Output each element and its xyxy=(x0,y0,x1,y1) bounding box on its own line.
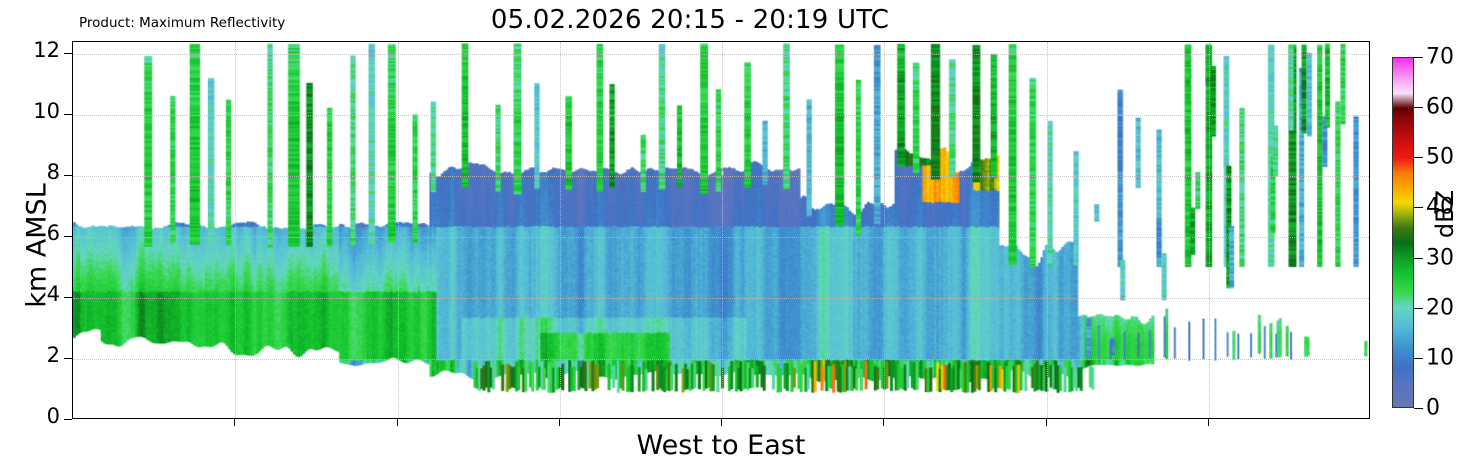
x-axis-tick xyxy=(397,419,398,426)
colorbar-tick xyxy=(1414,107,1423,108)
colorbar-tick xyxy=(1414,258,1423,259)
x-axis-tick xyxy=(234,419,235,426)
y-axis-tick xyxy=(64,297,72,298)
x-axis-tick xyxy=(559,419,560,426)
x-axis-tick xyxy=(1046,419,1047,426)
x-axis-tick xyxy=(883,419,884,426)
product-label: Product: Maximum Reflectivity xyxy=(79,15,285,31)
gridline-vertical xyxy=(1209,42,1210,418)
colorbar xyxy=(1392,57,1414,408)
y-axis-tick xyxy=(64,236,72,237)
gridline-horizontal xyxy=(73,54,1369,55)
colorbar-tick-label: 0 xyxy=(1426,396,1440,421)
gridline-vertical xyxy=(235,42,236,418)
colorbar-gradient xyxy=(1393,58,1413,407)
y-axis-tick-label: 10 xyxy=(0,99,60,123)
colorbar-tick-label: 70 xyxy=(1426,45,1454,70)
reflectivity-heatmap xyxy=(73,42,1369,418)
colorbar-tick xyxy=(1414,308,1423,309)
y-axis-label: km AMSL xyxy=(22,136,53,356)
y-axis-tick xyxy=(64,419,72,420)
y-axis-tick-label: 12 xyxy=(0,38,60,62)
colorbar-title: dBZ xyxy=(1431,154,1459,274)
colorbar-tick-label: 20 xyxy=(1426,295,1454,320)
gridline-vertical xyxy=(398,42,399,418)
gridline-horizontal xyxy=(73,115,1369,116)
colorbar-tick-label: 60 xyxy=(1426,95,1454,120)
plot-area xyxy=(72,41,1370,419)
colorbar-tick xyxy=(1414,408,1423,409)
gridline-horizontal xyxy=(73,359,1369,360)
gridline-vertical xyxy=(884,42,885,418)
gridline-horizontal xyxy=(73,237,1369,238)
gridline-vertical xyxy=(722,42,723,418)
gridline-vertical xyxy=(560,42,561,418)
radar-cross-section-figure: 05.02.2026 20:15 - 20:19 UTC Product: Ma… xyxy=(0,0,1482,470)
y-axis-tick xyxy=(64,53,72,54)
gridline-horizontal xyxy=(73,298,1369,299)
colorbar-tick xyxy=(1414,358,1423,359)
y-axis-tick-label: 0 xyxy=(0,404,60,428)
colorbar-tick-label: 10 xyxy=(1426,345,1454,370)
colorbar-tick xyxy=(1414,57,1423,58)
y-axis-tick xyxy=(64,358,72,359)
gridline-vertical xyxy=(1047,42,1048,418)
y-axis-tick xyxy=(64,114,72,115)
colorbar-tick xyxy=(1414,207,1423,208)
gridline-horizontal xyxy=(73,176,1369,177)
y-axis-tick xyxy=(64,175,72,176)
x-axis-tick xyxy=(721,419,722,426)
x-axis-tick xyxy=(1208,419,1209,426)
colorbar-tick xyxy=(1414,157,1423,158)
x-axis-label: West to East xyxy=(72,430,1370,461)
